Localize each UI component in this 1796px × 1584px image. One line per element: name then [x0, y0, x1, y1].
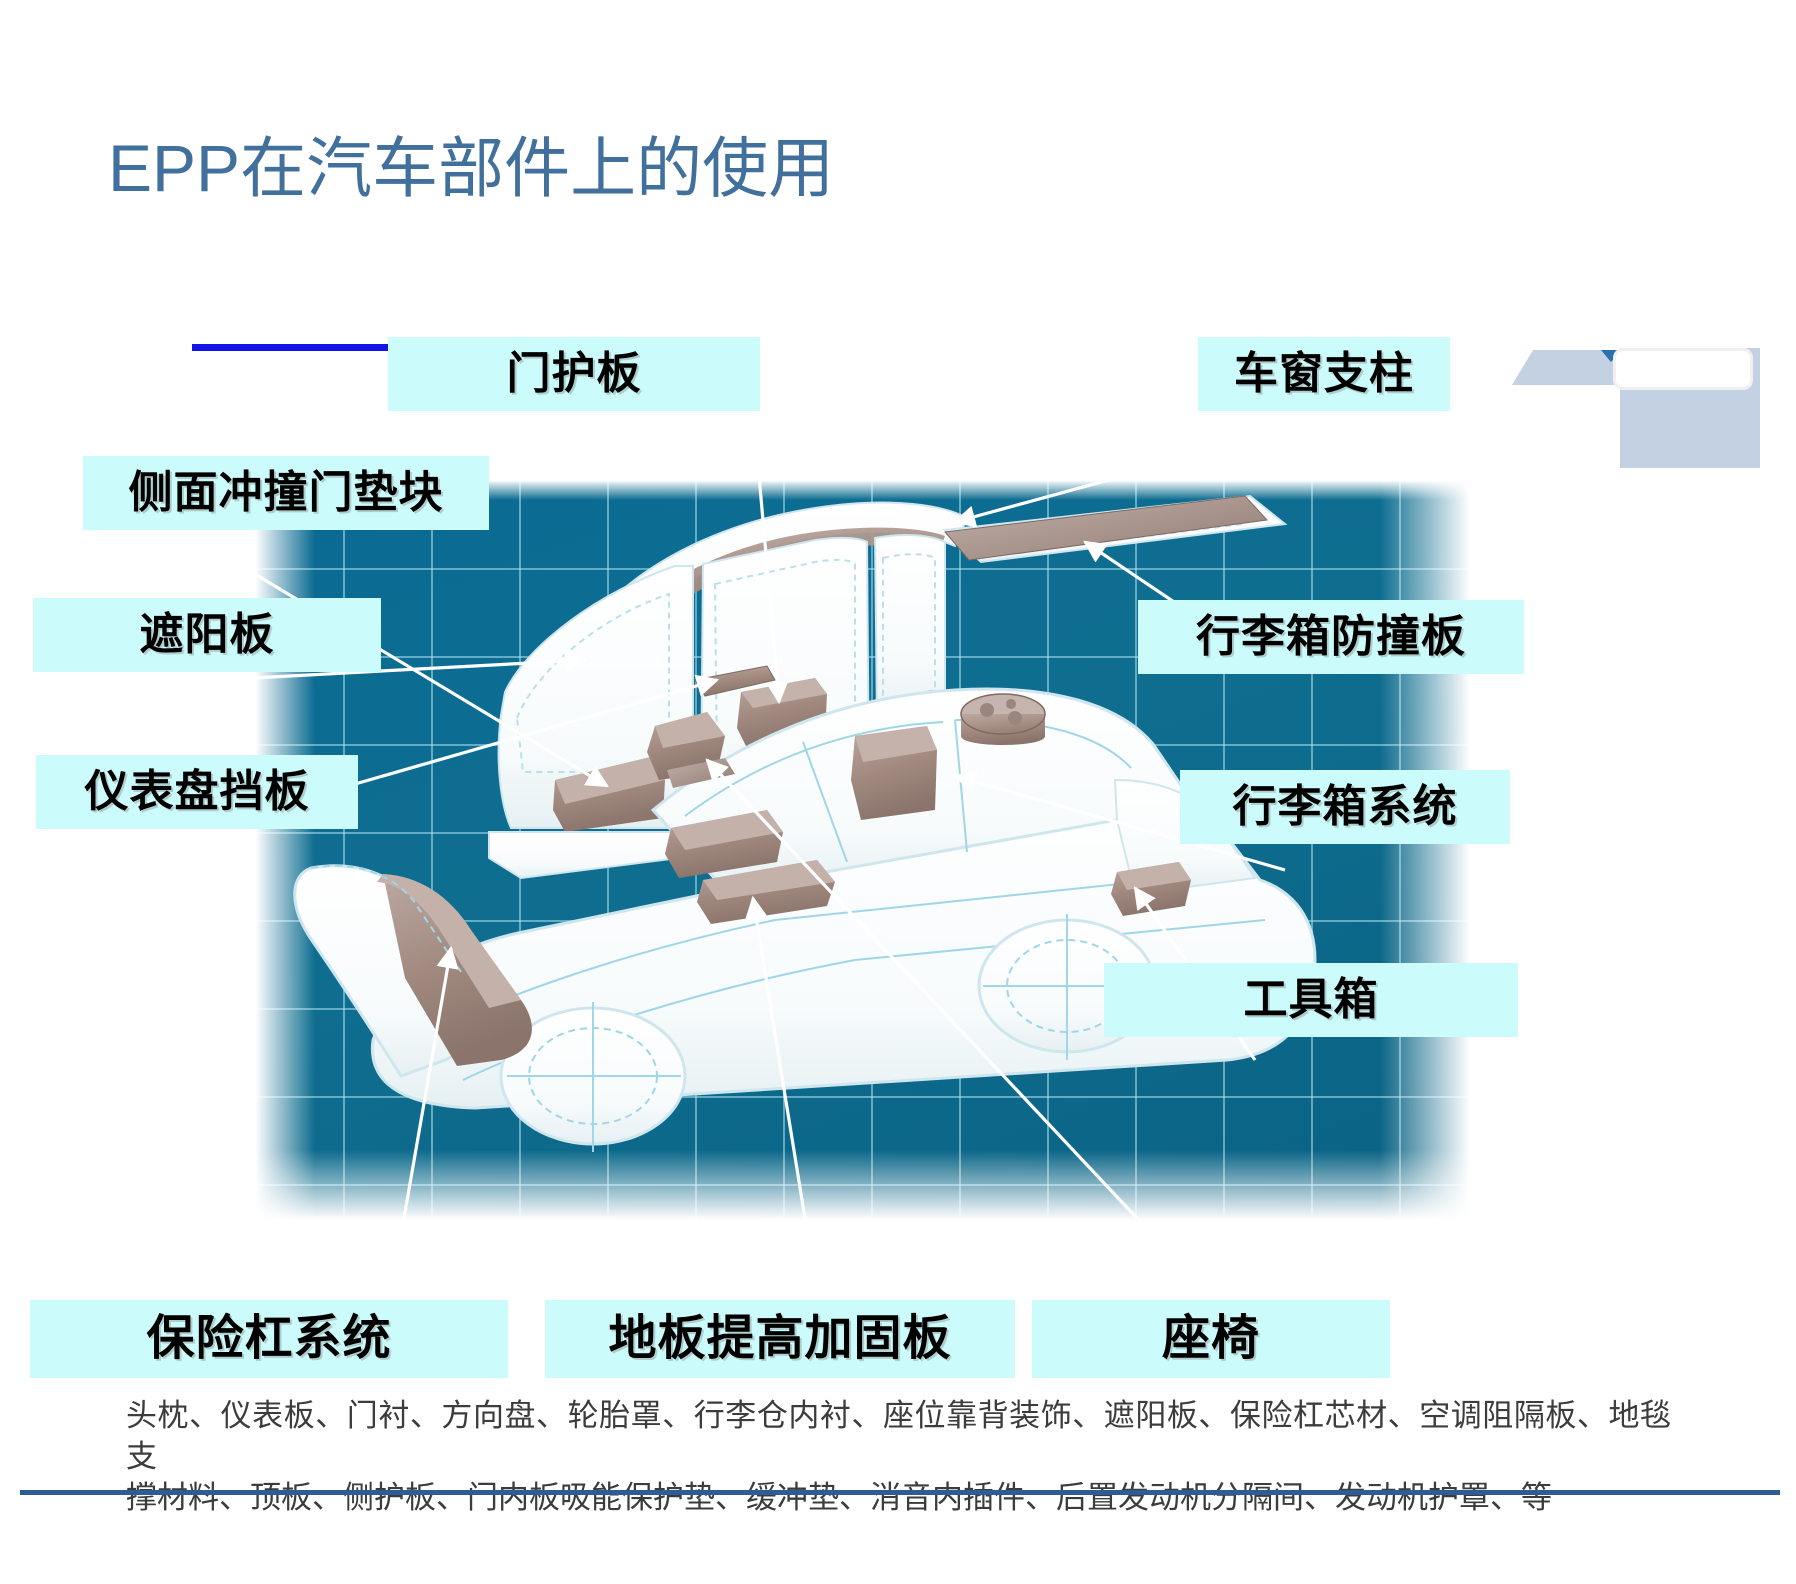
callout-trunk-bumper-board[interactable]: 行李箱防撞板	[1138, 600, 1524, 674]
car-illustration	[255, 480, 1470, 1220]
callout-label: 仪表盘挡板	[85, 770, 310, 814]
footnote-text: 头枕、仪表板、门衬、方向盘、轮胎罩、行李仓内衬、座位靠背装饰、遮阳板、保险杠芯材…	[126, 1396, 1671, 1519]
callout-label: 门护板	[507, 352, 642, 396]
part-bumper-system	[295, 866, 532, 1076]
callout-label: 保险杠系统	[146, 1315, 391, 1363]
footnote-line-1: 头枕、仪表板、门衬、方向盘、轮胎罩、行李仓内衬、座位靠背装饰、遮阳板、保险杠芯材…	[126, 1396, 1671, 1478]
callout-label: 地板提高加固板	[608, 1315, 951, 1363]
corner-decoration-card	[1613, 348, 1753, 390]
callout-sun-visor[interactable]: 遮阳板	[33, 598, 381, 672]
callout-label: 侧面冲撞门垫块	[129, 471, 444, 515]
part-door-inner-pad	[851, 726, 937, 820]
callout-floor-riser-panel[interactable]: 地板提高加固板	[545, 1300, 1015, 1378]
callout-door-trim-panel[interactable]: 门护板	[388, 337, 760, 411]
callout-trunk-system[interactable]: 行李箱系统	[1180, 770, 1510, 844]
callout-window-pillar[interactable]: 车窗支柱	[1198, 337, 1450, 411]
trunk-anti-collision-panel	[943, 480, 1267, 560]
callout-bumper-system[interactable]: 保险杠系统	[30, 1300, 508, 1378]
footer-rule	[20, 1490, 1780, 1495]
callout-seat[interactable]: 座椅	[1032, 1300, 1390, 1378]
callout-label: 座椅	[1162, 1315, 1260, 1363]
footnote-line-2: 撑材料、顶板、侧护板、门内板吸能保护垫、缓冲垫、消音内插件、后置发动机分隔间、发…	[126, 1478, 1671, 1519]
callout-label: 行李箱系统	[1233, 785, 1458, 829]
page-title: EPP在汽车部件上的使用	[108, 132, 834, 205]
callout-tool-box[interactable]: 工具箱	[1104, 963, 1518, 1037]
part-trunk-tool-pod	[961, 694, 1045, 745]
callout-dashboard-baffle[interactable]: 仪表盘挡板	[36, 755, 358, 829]
callout-label: 工具箱	[1244, 978, 1379, 1022]
callout-label: 车窗支柱	[1234, 352, 1414, 396]
callout-side-impact-door-pad[interactable]: 侧面冲撞门垫块	[83, 456, 489, 530]
callout-label: 行李箱防撞板	[1196, 615, 1466, 659]
callout-label: 遮阳板	[140, 613, 275, 657]
car-parts-diagram	[255, 480, 1470, 1220]
